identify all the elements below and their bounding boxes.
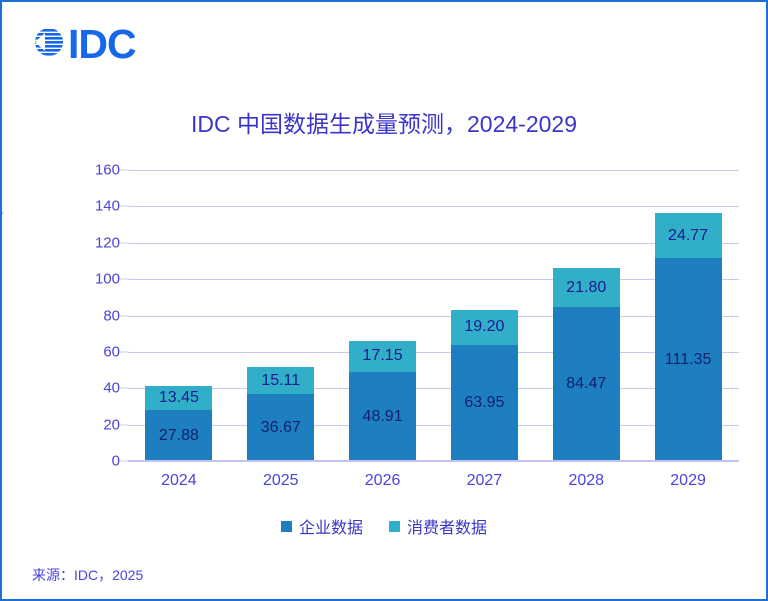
y-axis-tick-label: 0 bbox=[112, 453, 120, 470]
bar-segment-enterprise[interactable]: 27.88 bbox=[145, 410, 212, 461]
bar-value-label: 63.95 bbox=[464, 395, 504, 411]
y-axis-labels: 020406080100120140160 bbox=[62, 170, 120, 461]
legend-label: 消费者数据 bbox=[407, 514, 487, 538]
legend-item[interactable]: 消费者数据 bbox=[389, 514, 487, 538]
bar-value-label: 15.11 bbox=[261, 373, 300, 389]
bar-segment-consumer[interactable]: 15.11 bbox=[247, 367, 314, 394]
bar-value-label: 24.77 bbox=[668, 228, 708, 244]
gridline bbox=[128, 206, 739, 207]
bar-group[interactable]: 13.4527.88 bbox=[145, 386, 212, 461]
x-axis-tick-label: 2027 bbox=[451, 472, 518, 490]
bar-segment-enterprise[interactable]: 63.95 bbox=[451, 345, 518, 461]
gridline bbox=[128, 279, 739, 280]
chart-title: IDC 中国数据生成量预测，2024-2029 bbox=[2, 105, 766, 139]
bar-value-label: 36.67 bbox=[261, 420, 301, 436]
globe-stripes-icon bbox=[32, 25, 66, 64]
bar-group[interactable]: 24.77111.35 bbox=[655, 213, 722, 461]
bar-value-label: 84.47 bbox=[566, 376, 606, 392]
legend-item[interactable]: 企业数据 bbox=[281, 514, 363, 538]
bar-segment-enterprise[interactable]: 84.47 bbox=[553, 307, 620, 461]
y-axis-tick-label: 120 bbox=[95, 234, 120, 251]
y-axis-title: Zettabytes bbox=[0, 185, 4, 260]
y-axis-tick-label: 80 bbox=[103, 307, 120, 324]
idc-logo-text: IDC bbox=[68, 24, 136, 65]
bar-value-label: 48.91 bbox=[363, 409, 403, 425]
bar-segment-consumer[interactable]: 13.45 bbox=[145, 386, 212, 410]
legend-swatch-icon bbox=[281, 521, 292, 532]
bar-value-label: 21.80 bbox=[566, 280, 606, 296]
idc-logo: IDC bbox=[32, 24, 136, 65]
x-axis-tick-label: 2029 bbox=[655, 472, 722, 490]
bar-value-label: 13.45 bbox=[159, 390, 199, 406]
x-axis-line bbox=[128, 460, 739, 462]
bar-segment-enterprise[interactable]: 48.91 bbox=[349, 372, 416, 461]
plot-area: 13.4527.8815.1136.6717.1548.9119.2063.95… bbox=[128, 170, 739, 461]
gridline bbox=[128, 388, 739, 389]
y-axis-tick-label: 40 bbox=[103, 380, 120, 397]
x-axis-labels: 202420252026202720282029 bbox=[128, 472, 739, 496]
y-axis-tick-label: 160 bbox=[95, 162, 120, 179]
source-note: 来源：IDC，2025 bbox=[32, 565, 143, 585]
legend-swatch-icon bbox=[389, 521, 400, 532]
bar-segment-consumer[interactable]: 21.80 bbox=[553, 268, 620, 308]
bar-value-label: 17.15 bbox=[363, 348, 403, 364]
gridline bbox=[128, 170, 739, 171]
gridline bbox=[128, 425, 739, 426]
chart-card: IDC IDC 中国数据生成量预测，2024-2029 Zettabytes 0… bbox=[0, 0, 768, 601]
y-axis-tick-label: 20 bbox=[103, 416, 120, 433]
gridline bbox=[128, 316, 739, 317]
gridline bbox=[128, 243, 739, 244]
y-axis-tick-label: 140 bbox=[95, 198, 120, 215]
gridline bbox=[128, 352, 739, 353]
x-axis-tick-label: 2028 bbox=[553, 472, 620, 490]
legend-label: 企业数据 bbox=[299, 514, 363, 538]
bar-value-label: 111.35 bbox=[665, 352, 712, 368]
x-axis-tick-label: 2025 bbox=[247, 472, 314, 490]
chart-legend: 企业数据消费者数据 bbox=[2, 514, 766, 538]
bar-segment-consumer[interactable]: 19.20 bbox=[451, 310, 518, 345]
bar-group[interactable]: 21.8084.47 bbox=[553, 268, 620, 461]
bar-segment-consumer[interactable]: 24.77 bbox=[655, 213, 722, 258]
bar-segment-enterprise[interactable]: 111.35 bbox=[655, 258, 722, 461]
bar-segment-enterprise[interactable]: 36.67 bbox=[247, 394, 314, 461]
bar-value-label: 27.88 bbox=[159, 428, 199, 444]
x-axis-tick-label: 2024 bbox=[145, 472, 212, 490]
x-axis-tick-label: 2026 bbox=[349, 472, 416, 490]
y-axis-tick-label: 100 bbox=[95, 271, 120, 288]
bar-group[interactable]: 17.1548.91 bbox=[349, 341, 416, 461]
bar-value-label: 19.20 bbox=[464, 319, 504, 335]
bar-segment-consumer[interactable]: 17.15 bbox=[349, 341, 416, 372]
y-axis-tick-label: 60 bbox=[103, 343, 120, 360]
bar-group[interactable]: 15.1136.67 bbox=[247, 367, 314, 461]
bar-group[interactable]: 19.2063.95 bbox=[451, 310, 518, 461]
